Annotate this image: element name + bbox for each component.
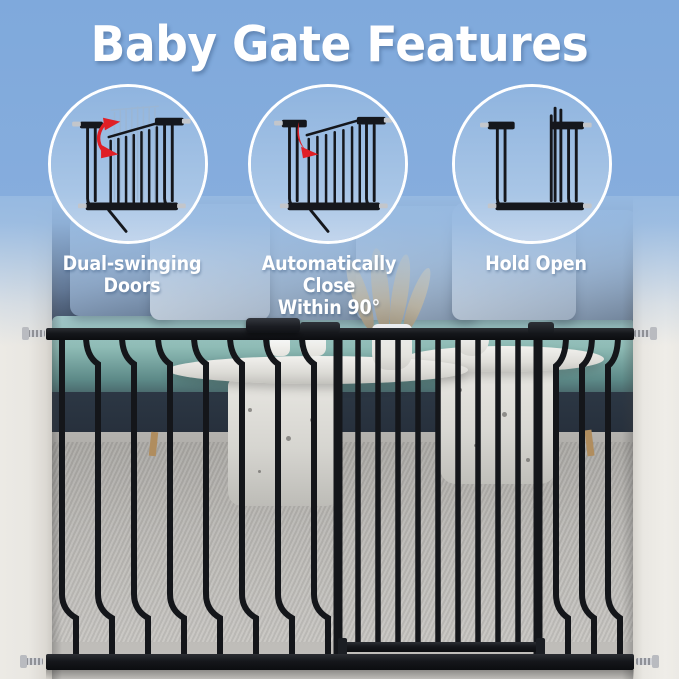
feature-hold-open[interactable]: Hold Open [452, 84, 620, 275]
feature-icon-circle [248, 84, 408, 244]
gate-mount-cap-bottom-right [652, 655, 659, 668]
feature-dual-swinging-doors[interactable]: Dual-swinging Doors [48, 84, 216, 297]
gate-mount-cap-bottom-left [20, 655, 27, 668]
gate-hold-open-icon [455, 87, 609, 241]
feature-automatically-close[interactable]: Automatically Close Within 90° [248, 84, 424, 318]
feature-icon-circle [452, 84, 612, 244]
gate-latch-body [300, 322, 340, 333]
gate-door-swing-both-ways-icon [51, 87, 205, 241]
gate-mount-bolt-top-right [634, 330, 651, 337]
feature-icon-circle [48, 84, 208, 244]
feature-caption: Dual-swinging Doors [56, 253, 207, 297]
gate-door-hinge-top [528, 322, 554, 334]
feature-caption-line2: Doors [56, 275, 207, 297]
gate-door-bottom-rail [344, 642, 540, 652]
gate-latch-handle[interactable] [246, 318, 300, 333]
gate-mount-bolt-bottom-right [636, 658, 653, 665]
gate-mount-bolt-top-left [28, 330, 45, 337]
feature-caption: Hold Open [460, 253, 611, 275]
infographic-canvas: Baby Gate Features [0, 0, 679, 679]
page-title: Baby Gate Features [24, 16, 655, 73]
feature-caption-line2: Within 90° [244, 297, 415, 319]
gate-bottom-rail [46, 654, 634, 670]
gate-mount-cap-top-right [650, 327, 657, 340]
gate-floor-shadow [46, 670, 634, 679]
feature-caption-line1: Dual-swinging [56, 253, 207, 275]
gate-mount-cap-top-left [22, 327, 29, 340]
feature-caption-line1: Hold Open [460, 253, 611, 275]
gate-mount-bolt-bottom-left [26, 658, 43, 665]
feature-caption: Automatically Close Within 90° [244, 253, 415, 318]
gate-auto-close-icon [251, 87, 405, 241]
feature-caption-line1: Automatically Close [244, 253, 415, 297]
